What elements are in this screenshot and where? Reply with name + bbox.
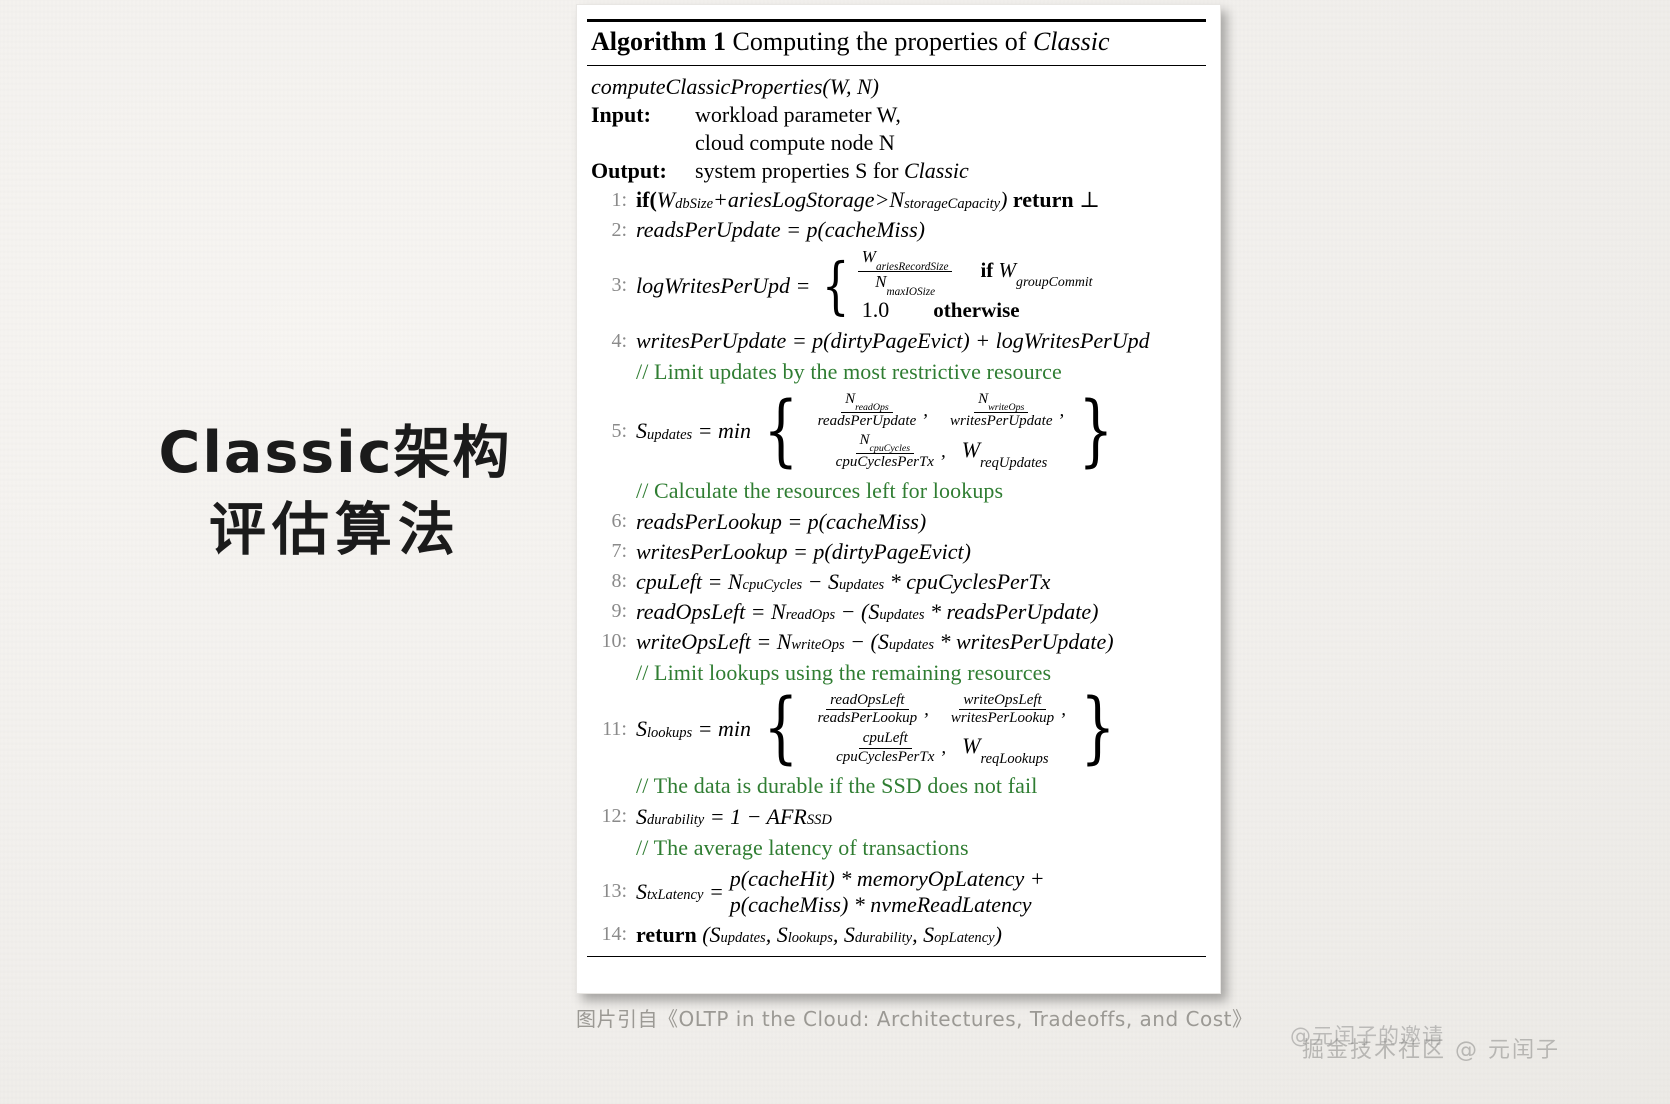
token-l9-c: * readsPerUpdate) — [930, 599, 1098, 625]
line-number-1: 1: — [587, 189, 636, 212]
comma-separator: , — [1060, 400, 1065, 422]
comma-separator: , — [923, 400, 928, 422]
fraction-denominator: NmaxIOSize — [871, 272, 939, 295]
minset-rows-line11: readOpsLeft readsPerLookup , writeOpsLef… — [806, 691, 1073, 768]
token-W-sub: reqUpdates — [980, 455, 1047, 471]
fraction-readopsleft-over-readsperlookup: readOpsLeft readsPerLookup — [814, 693, 921, 728]
image-source-caption: 图片引自《OLTP in the Cloud: Architectures, T… — [576, 1003, 1221, 1032]
fraction-denominator: writesPerLookup — [947, 710, 1058, 727]
line-number-12: 12: — [587, 805, 636, 828]
line-body-8: cpuLeft = NcpuCycles − Supdates * cpuCyc… — [636, 569, 1206, 595]
token-l14-c3: , S — [912, 922, 934, 948]
slide-title-line2: 评估算法 — [150, 492, 520, 569]
line-number-14: 14: — [587, 923, 636, 946]
case-row-1: WariesRecordSize NmaxIOSize if WgroupCom… — [856, 247, 1093, 296]
line-number-11: 11: — [587, 718, 636, 741]
frac-num-sub: readOps — [855, 402, 889, 413]
token-l14-close: ) — [995, 922, 1002, 948]
token-return: return — [1013, 187, 1074, 213]
fraction-numerator: readOpsLeft — [826, 693, 908, 711]
slide-title-line1: Classic架构 — [150, 415, 520, 492]
algorithm-line-7: 7: writesPerLookup = p(dirtyPageEvict) — [587, 537, 1206, 567]
frac-num: N — [978, 391, 988, 407]
line-number-7: 7: — [587, 540, 636, 563]
token-l11-last: WreqLookups — [962, 733, 1048, 763]
token-l14-c2: , S — [833, 922, 855, 948]
token-l13-eq: = — [709, 879, 724, 905]
minset-block-line5: { NreadOps readsPerUpdate , NwriteOps wr… — [756, 390, 1121, 472]
case-condition-1: if WgroupCommit — [980, 258, 1092, 286]
algorithm-output-value-text: system properties S for — [695, 158, 904, 183]
latency-term-1: p(cacheHit) * memoryOpLatency + — [730, 866, 1045, 892]
case-row-2: 1.0 otherwise — [856, 296, 1093, 324]
token-l14-s4: opLatency — [934, 930, 994, 947]
algorithm-line-9: 9: readOpsLeft = NreadOps − (Supdates * … — [587, 597, 1206, 627]
token-l5-S-sub: updates — [647, 427, 692, 444]
algorithm-heading-emphasis: Classic — [1033, 27, 1110, 56]
token-l5-S: S — [636, 418, 647, 444]
token-l3-lhs: logWritesPerUpd = — [636, 273, 810, 299]
token-l10-c: * writesPerUpdate) — [939, 629, 1113, 655]
comma-separator: , — [924, 699, 929, 721]
token-l10-a-sub: writeOps — [791, 637, 844, 654]
brace-left-icon: { — [763, 390, 798, 472]
fraction-denominator: cpuCyclesPerTx — [832, 454, 938, 471]
algorithm-output-row: Output: system properties S for Classic — [587, 157, 1206, 185]
frac-num-W: W — [862, 247, 876, 266]
watermark-author: @元闰子的邀请 — [1290, 1020, 1444, 1050]
token-l9-b: − (S — [841, 599, 880, 625]
token-l11-S: S — [636, 716, 647, 742]
algorithm-heading: Algorithm 1 Computing the properties of … — [587, 22, 1206, 62]
fraction-cpuleft-over-cpucyclespertx: cpuLeft cpuCyclesPerTx — [832, 731, 938, 766]
algorithm-input-value-1: workload parameter W, — [695, 102, 901, 128]
frac-num-sub: ariesRecordSize — [876, 261, 949, 273]
watermark-community: 掘金技术社区 @ 元闰子 — [1302, 1032, 1560, 1064]
brace-right-icon: } — [1079, 390, 1114, 472]
algorithm-output-value: system properties S for Classic — [695, 158, 969, 184]
algorithm-input-row-2: cloud compute node N — [587, 129, 1206, 157]
token-l8-b-sub: updates — [839, 577, 884, 594]
token-l8-c: * cpuCyclesPerTx — [890, 569, 1051, 595]
frac-num: N — [860, 432, 870, 448]
token-if: if — [636, 187, 649, 213]
line-number-3: 3: — [587, 274, 636, 297]
token-bottom: ⊥ — [1079, 187, 1100, 213]
token-N-sub: storageCapacity — [904, 196, 1000, 213]
algorithm-bottom-rule — [587, 956, 1206, 957]
line-number-13: 13: — [587, 880, 636, 903]
token-l9-a-sub: readOps — [786, 607, 835, 624]
token-W: W — [962, 437, 980, 462]
line-body-1: if(WdbSize + ariesLogStorage > NstorageC… — [636, 187, 1206, 213]
token-aries: ariesLogStorage — [728, 187, 875, 213]
algorithm-line-13: 13: StxLatency = p(cacheHit) * memoryOpL… — [587, 864, 1206, 920]
fraction-numerator: NcpuCycles — [856, 433, 915, 453]
line-body-10: writeOpsLeft = NwriteOps − (Supdates * w… — [636, 629, 1206, 655]
algorithm-signature: computeClassicProperties(W, N) — [587, 71, 1206, 101]
case-cond-W: W — [999, 258, 1017, 282]
token-W-sub: reqLookups — [980, 751, 1048, 767]
algorithm-heading-text: Computing the properties of — [726, 27, 1033, 56]
token-l8-a-sub: cpuCycles — [743, 577, 803, 594]
fraction-denominator: writesPerUpdate — [946, 413, 1057, 430]
algorithm-comment-2: // Calculate the resources left for look… — [587, 475, 1206, 507]
fraction-aries-over-maxio: WariesRecordSize NmaxIOSize — [858, 248, 953, 295]
algorithm-header-rule — [587, 65, 1206, 66]
token-l14-s2: lookups — [788, 930, 833, 947]
comma-separator: , — [941, 737, 946, 759]
token-l10-a: writeOpsLeft = N — [636, 629, 791, 655]
token-plus: + — [713, 187, 728, 213]
token-l11-eq-min: = min — [698, 716, 751, 742]
line-body-4: writesPerUpdate = p(dirtyPageEvict) + lo… — [636, 328, 1206, 354]
algorithm-comment-4: // The data is durable if the SSD does n… — [587, 770, 1206, 802]
slide-title: Classic架构 评估算法 — [150, 415, 520, 569]
minset-rows-line5: NreadOps readsPerUpdate , NwriteOps writ… — [806, 390, 1072, 472]
line-number-5: 5: — [587, 420, 636, 443]
line-number-8: 8: — [587, 570, 636, 593]
latency-term-2: p(cacheMiss) * nvmeReadLatency — [730, 892, 1032, 918]
fraction-readops-over-readsperupdate: NreadOps readsPerUpdate — [814, 392, 921, 429]
algorithm-input-row-1: Input: workload parameter W, — [587, 101, 1206, 129]
line-body-13: StxLatency = p(cacheHit) * memoryOpLaten… — [636, 866, 1206, 918]
algorithm-line-2: 2: readsPerUpdate = p(cacheMiss) — [587, 215, 1206, 245]
token-l9-b-sub: updates — [879, 607, 924, 624]
token-l12-b-sub: SSD — [807, 812, 832, 829]
token-l5-eq-min: = min — [698, 418, 751, 444]
frac-num: N — [845, 391, 855, 407]
case-value-2: 1.0 — [856, 297, 890, 323]
watermark-layer: @元闰子的邀请 掘金技术社区 @ 元闰子 — [1290, 1018, 1650, 1064]
algorithm-input-label: Input: — [591, 102, 695, 128]
minset-block-line11: { readOpsLeft readsPerLookup , writeOpsL… — [756, 691, 1123, 768]
line-body-5: Supdates = min { NreadOps readsPerUpdate… — [636, 390, 1206, 472]
fraction-denominator: readsPerLookup — [814, 710, 921, 727]
fraction-numerator: cpuLeft — [859, 731, 912, 749]
token-W: W — [657, 187, 675, 213]
comma-separator: , — [1061, 699, 1066, 721]
algorithm-line-5: 5: Supdates = min { NreadOps readsPerUpd… — [587, 388, 1206, 474]
algorithm-input-value-2: cloud compute node N — [695, 130, 895, 156]
fraction-numerator: NreadOps — [841, 392, 893, 412]
line-body-2: readsPerUpdate = p(cacheMiss) — [636, 217, 1206, 243]
minset-row-2: cpuLeft cpuCyclesPerTx , WreqLookups — [812, 729, 1067, 768]
line-number-6: 6: — [587, 510, 636, 533]
algorithm-line-11: 11: Slookups = min { readOpsLeft readsPe… — [587, 689, 1206, 770]
line-body-9: readOpsLeft = NreadOps − (Supdates * rea… — [636, 599, 1206, 625]
case-condition-2: otherwise — [933, 298, 1019, 323]
fraction-denominator: readsPerUpdate — [814, 413, 921, 430]
token-l10-b: − (S — [850, 629, 889, 655]
algorithm-line-12: 12: Sdurability = 1 − AFRSSD — [587, 802, 1206, 832]
token-l12-b: = 1 − AFR — [710, 804, 807, 830]
token-gt: > — [875, 187, 890, 213]
token-W-sub: dbSize — [675, 196, 713, 213]
minset-row-1: NreadOps readsPerUpdate , NwriteOps writ… — [812, 390, 1066, 431]
fraction-writeopsleft-over-writesperlookup: writeOpsLeft writesPerLookup — [947, 693, 1058, 728]
token-paren-close: ) — [1000, 187, 1007, 213]
token-l11-S-sub: lookups — [647, 725, 692, 742]
token-l14-c1: , S — [766, 922, 788, 948]
line-number-2: 2: — [587, 219, 636, 242]
algorithm-comment-5: // The average latency of transactions — [587, 832, 1206, 864]
brace-right-icon: } — [1080, 691, 1115, 768]
line-body-3: logWritesPerUpd = { WariesRecordSize Nma… — [636, 247, 1206, 324]
algorithm-line-8: 8: cpuLeft = NcpuCycles − Supdates * cpu… — [587, 567, 1206, 597]
frac-den-sub: maxIOSize — [887, 286, 936, 298]
algorithm-line-14: 14: return (Supdates, Slookups, Sdurabil… — [587, 920, 1206, 950]
algorithm-line-3: 3: logWritesPerUpd = { WariesRecordSize … — [587, 245, 1206, 326]
fraction-cpucycles-over-cpucyclespertx: NcpuCycles cpuCyclesPerTx — [832, 433, 938, 470]
algorithm-comment-1: // Limit updates by the most restrictive… — [587, 356, 1206, 388]
fraction-denominator: cpuCyclesPerTx — [832, 749, 938, 766]
token-paren-open: ( — [649, 187, 656, 213]
line-body-12: Sdurability = 1 − AFRSSD — [636, 804, 1206, 830]
token-l13-S: S — [636, 879, 647, 905]
minset-row-2: NcpuCycles cpuCyclesPerTx , WreqUpdates — [812, 431, 1066, 472]
algorithm-output-value-emphasis: Classic — [904, 158, 969, 183]
line-number-4: 4: — [587, 330, 636, 353]
fraction-numerator: NwriteOps — [974, 392, 1028, 412]
algorithm-input-label-blank — [591, 130, 695, 156]
line-body-14: return (Supdates, Slookups, Sdurability,… — [636, 922, 1206, 948]
algorithm-card: Algorithm 1 Computing the properties of … — [576, 4, 1221, 994]
token-l8-b: − S — [808, 569, 839, 595]
token-return: return — [636, 922, 697, 948]
line-body-7: writesPerLookup = p(dirtyPageEvict) — [636, 539, 1206, 565]
token-l12-a-sub: durability — [647, 812, 704, 829]
brace-left-icon: { — [822, 247, 850, 324]
token-W: W — [962, 733, 980, 758]
fraction-numerator: WariesRecordSize — [858, 248, 953, 272]
case-if-keyword: if — [980, 258, 993, 282]
token-l10-b-sub: updates — [889, 637, 934, 654]
fraction-writeops-over-writesperupdate: NwriteOps writesPerUpdate — [946, 392, 1057, 429]
token-l5-last: WreqUpdates — [962, 437, 1048, 467]
token-l9-a: readOpsLeft = N — [636, 599, 786, 625]
token-l8-a: cpuLeft = N — [636, 569, 743, 595]
algorithm-heading-number: Algorithm 1 — [591, 27, 726, 56]
token-l12-a: S — [636, 804, 647, 830]
token-l14-open: (S — [702, 922, 720, 948]
line-number-9: 9: — [587, 600, 636, 623]
algorithm-line-4: 4: writesPerUpdate = p(dirtyPageEvict) +… — [587, 326, 1206, 356]
latency-expression: p(cacheHit) * memoryOpLatency + p(cacheM… — [730, 866, 1045, 918]
comma-separator: , — [941, 441, 946, 463]
line-body-11: Slookups = min { readOpsLeft readsPerLoo… — [636, 691, 1206, 768]
line-number-10: 10: — [587, 630, 636, 653]
cases-rows-line3: WariesRecordSize NmaxIOSize if WgroupCom… — [856, 247, 1093, 324]
fraction-numerator: writeOpsLeft — [959, 693, 1045, 711]
minset-row-1: readOpsLeft readsPerLookup , writeOpsLef… — [812, 691, 1067, 730]
case-cond-W-sub: groupCommit — [1016, 274, 1093, 289]
token-l13-S-sub: txLatency — [647, 887, 703, 904]
token-N: N — [889, 187, 904, 213]
algorithm-line-1: 1: if(WdbSize + ariesLogStorage > Nstora… — [587, 185, 1206, 215]
line-body-6: readsPerLookup = p(cacheMiss) — [636, 509, 1206, 535]
frac-num-sub: cpuCycles — [870, 443, 911, 454]
token-l14-s3: durability — [855, 930, 912, 947]
token-l14-s1: updates — [721, 930, 766, 947]
algorithm-line-6: 6: readsPerLookup = p(cacheMiss) — [587, 507, 1206, 537]
algorithm-output-label: Output: — [591, 158, 695, 184]
frac-num-sub: writeOps — [988, 402, 1024, 413]
brace-left-icon: { — [763, 691, 798, 768]
cases-block-line3: { WariesRecordSize NmaxIOSize if WgroupC… — [816, 247, 1092, 324]
algorithm-line-10: 10: writeOpsLeft = NwriteOps − (Supdates… — [587, 627, 1206, 657]
frac-den-N: N — [875, 272, 886, 291]
